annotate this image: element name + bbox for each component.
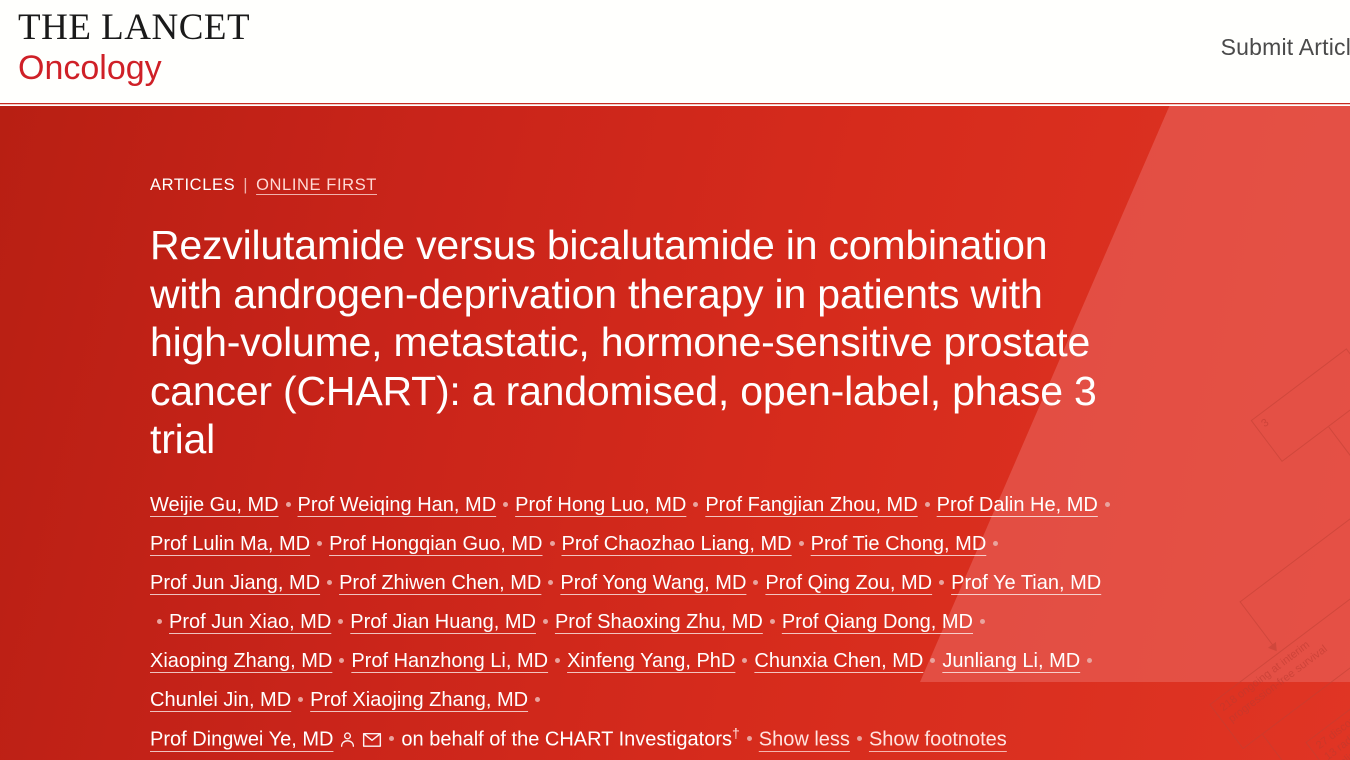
author-separator-dot — [555, 658, 560, 663]
author-list: Weijie Gu, MDProf Weiqing Han, MDProf Ho… — [150, 486, 1120, 760]
watermark-connector — [1262, 734, 1300, 760]
author-link[interactable]: Prof Xiaojing Zhang, MD — [310, 689, 528, 711]
author-separator-dot — [1105, 502, 1110, 507]
author-link[interactable]: Prof Hongqian Guo, MD — [329, 533, 542, 555]
author-separator-dot — [286, 502, 291, 507]
author-link[interactable]: Weijie Gu, MD — [150, 494, 279, 516]
author-link[interactable]: Prof Jian Huang, MD — [350, 611, 536, 633]
author-separator-dot — [747, 736, 752, 741]
show-less-link[interactable]: Show less — [759, 729, 850, 751]
article-title: Rezvilutamide versus bicalutamide in com… — [150, 221, 1120, 464]
author-link[interactable]: Prof Lulin Ma, MD — [150, 533, 310, 555]
author-separator-dot — [770, 619, 775, 624]
watermark-box: 218 ongoing at interim progression-free … — [1209, 554, 1350, 749]
author-link[interactable]: Prof Zhiwen Chen, MD — [339, 572, 541, 594]
corresponding-author-link[interactable]: Prof Dingwei Ye, MD — [150, 729, 333, 751]
author-separator-dot — [548, 580, 553, 585]
author-link[interactable]: Prof Yong Wang, MD — [560, 572, 746, 594]
author-separator-dot — [317, 541, 322, 546]
author-link[interactable]: Junliang Li, MD — [942, 650, 1080, 672]
author-separator-dot — [543, 619, 548, 624]
author-link[interactable]: Chunxia Chen, MD — [754, 650, 923, 672]
author-link[interactable]: Prof Ye Tian, MD — [951, 572, 1101, 594]
author-separator-dot — [503, 502, 508, 507]
show-footnotes-link[interactable]: Show footnotes — [869, 729, 1007, 751]
author-link[interactable]: Xinfeng Yang, PhD — [567, 650, 735, 672]
author-separator-dot — [993, 541, 998, 546]
author-separator-dot — [742, 658, 747, 663]
author-separator-dot — [857, 736, 862, 741]
person-icon[interactable] — [338, 724, 357, 760]
article-header-block: ARTICLES | ONLINE FIRST Rezvilutamide ve… — [0, 106, 1120, 760]
author-separator-dot — [980, 619, 985, 624]
author-separator-dot — [327, 580, 332, 585]
author-separator-dot — [550, 541, 555, 546]
submit-article-link[interactable]: Submit Article — [1221, 34, 1350, 60]
author-separator-dot — [799, 541, 804, 546]
author-link[interactable]: Prof Dalin He, MD — [937, 494, 1098, 516]
masthead-oncology-text: Oncology — [18, 49, 250, 87]
masthead-logo[interactable]: THE LANCET Oncology — [0, 0, 250, 87]
author-link[interactable]: Chunlei Jin, MD — [150, 689, 291, 711]
author-separator-dot — [930, 658, 935, 663]
author-separator-dot — [1087, 658, 1092, 663]
article-type-label: ARTICLES — [150, 176, 235, 195]
watermark-connector — [1239, 601, 1275, 648]
author-separator-dot — [535, 697, 540, 702]
author-separator-dot — [925, 502, 930, 507]
watermark-arrow — [1268, 642, 1281, 654]
author-link[interactable]: Prof Shaoxing Zhu, MD — [555, 611, 763, 633]
site-header: THE LANCET Oncology Submit Article — [0, 0, 1350, 106]
article-hero-banner: 3 218 ongoing at interim progression-fre… — [0, 106, 1350, 760]
footnote-dagger-marker[interactable]: † — [732, 725, 740, 741]
author-separator-dot — [693, 502, 698, 507]
author-link[interactable]: Prof Jun Jiang, MD — [150, 572, 320, 594]
watermark-box: 27 discontinued 13 radiographic 8 clinic… — [1305, 586, 1350, 760]
author-link[interactable]: Prof Hong Luo, MD — [515, 494, 686, 516]
author-separator-dot — [389, 736, 394, 741]
author-link[interactable]: Prof Fangjian Zhou, MD — [705, 494, 917, 516]
author-separator-dot — [338, 619, 343, 624]
author-separator-dot — [339, 658, 344, 663]
author-link[interactable]: Xiaoping Zhang, MD — [150, 650, 332, 672]
watermark-connector — [1239, 495, 1350, 603]
header-nav: Submit Article — [1221, 0, 1350, 61]
author-separator-dot — [939, 580, 944, 585]
author-separator-dot — [157, 619, 162, 624]
article-kicker: ARTICLES | ONLINE FIRST — [150, 176, 1120, 195]
author-link[interactable]: Prof Qing Zou, MD — [765, 572, 932, 594]
author-separator-dot — [753, 580, 758, 585]
author-link[interactable]: Prof Tie Chong, MD — [811, 533, 987, 555]
masthead-lancet-text: THE LANCET — [18, 8, 250, 48]
author-link[interactable]: Prof Chaozhao Liang, MD — [562, 533, 792, 555]
group-credit-text: on behalf of the CHART Investigators — [401, 729, 732, 751]
author-separator-dot — [298, 697, 303, 702]
watermark-box: 3 — [1251, 348, 1350, 462]
author-link[interactable]: Prof Weiqing Han, MD — [298, 494, 497, 516]
envelope-icon[interactable] — [362, 724, 382, 760]
author-link[interactable]: Prof Jun Xiao, MD — [169, 611, 331, 633]
author-link[interactable]: Prof Hanzhong Li, MD — [351, 650, 548, 672]
author-link[interactable]: Prof Qiang Dong, MD — [782, 611, 973, 633]
online-first-link[interactable]: ONLINE FIRST — [256, 176, 377, 195]
watermark-connector — [1328, 426, 1350, 496]
kicker-separator: | — [243, 176, 248, 195]
